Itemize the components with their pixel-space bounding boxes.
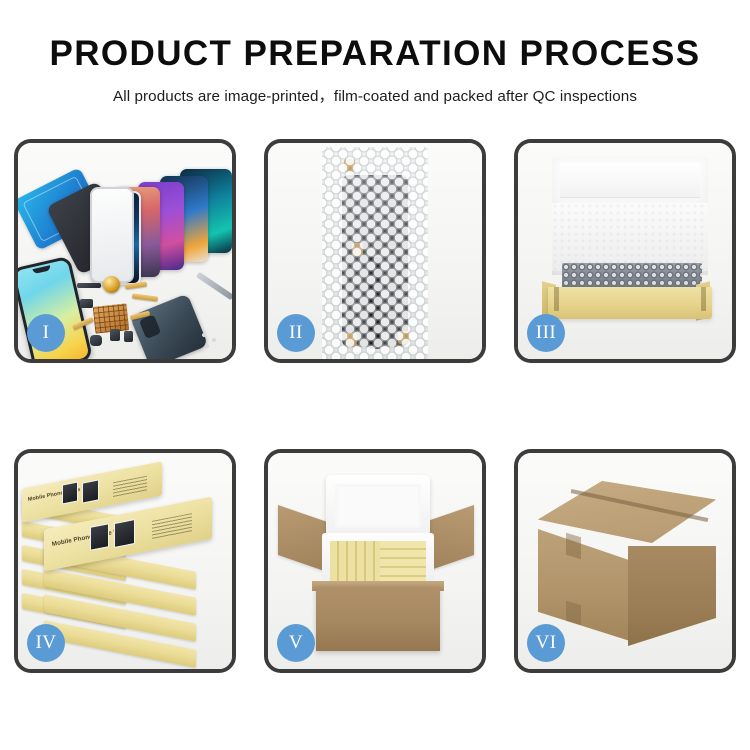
step-badge-4: IV: [27, 624, 65, 662]
bubble-wrap-bag: [322, 147, 428, 359]
inner-box-front: [548, 287, 712, 319]
step-badge-6: VI: [527, 624, 565, 662]
carton-tab-upper: [566, 533, 581, 560]
phone-back-housing-icon: [130, 293, 208, 363]
step-panel-5: V: [264, 449, 486, 673]
gold-component-icon: [103, 276, 120, 293]
screws-icon: [200, 331, 224, 351]
ic-chip-2-icon: [90, 335, 102, 346]
ic-chip-3-icon: [110, 329, 120, 341]
flex-cable-2-icon: [132, 293, 158, 301]
shipping-carton-side: [628, 546, 716, 646]
header: PRODUCT PREPARATION PROCESS All products…: [0, 0, 750, 106]
step-panel-6: VI: [514, 449, 736, 673]
speaker-mesh-icon: [77, 283, 101, 288]
carton-body: [316, 587, 440, 651]
box-thumb-back-2: [82, 479, 99, 503]
page-title: PRODUCT PREPARATION PROCESS: [0, 36, 750, 73]
box-thumb-front-1: [90, 523, 109, 551]
box-thumb-front-2: [114, 519, 135, 548]
step-badge-1: I: [27, 314, 65, 352]
box-thumb-back-1: [62, 481, 78, 504]
foam-sheet: [552, 203, 708, 271]
step-badge-5: V: [277, 624, 315, 662]
styrofoam-lid: [326, 475, 430, 537]
page-subtitle: All products are image-printed，film-coat…: [0, 84, 750, 106]
step-badge-2: II: [277, 314, 315, 352]
shipping-carton-top: [538, 481, 716, 543]
step-panel-1: I: [14, 139, 236, 363]
tempered-glass-icon: [90, 187, 134, 283]
step-badge-3: III: [527, 314, 565, 352]
carton-tab-lower: [566, 601, 581, 626]
bubble-texture: [322, 147, 428, 359]
step-panel-4: Mobile Phone Spare Parts Mobile Phone Sp…: [14, 449, 236, 673]
step-panel-3: III: [514, 139, 736, 363]
packed-yellow-boxes-secondary: [380, 541, 426, 583]
step-panel-2: II: [264, 139, 486, 363]
ic-chip-4-icon: [124, 331, 133, 342]
ic-chip-1-icon: [80, 299, 93, 308]
process-step-grid: I II: [14, 139, 736, 673]
product-preparation-infographic: PRODUCT PREPARATION PROCESS All products…: [0, 0, 750, 750]
